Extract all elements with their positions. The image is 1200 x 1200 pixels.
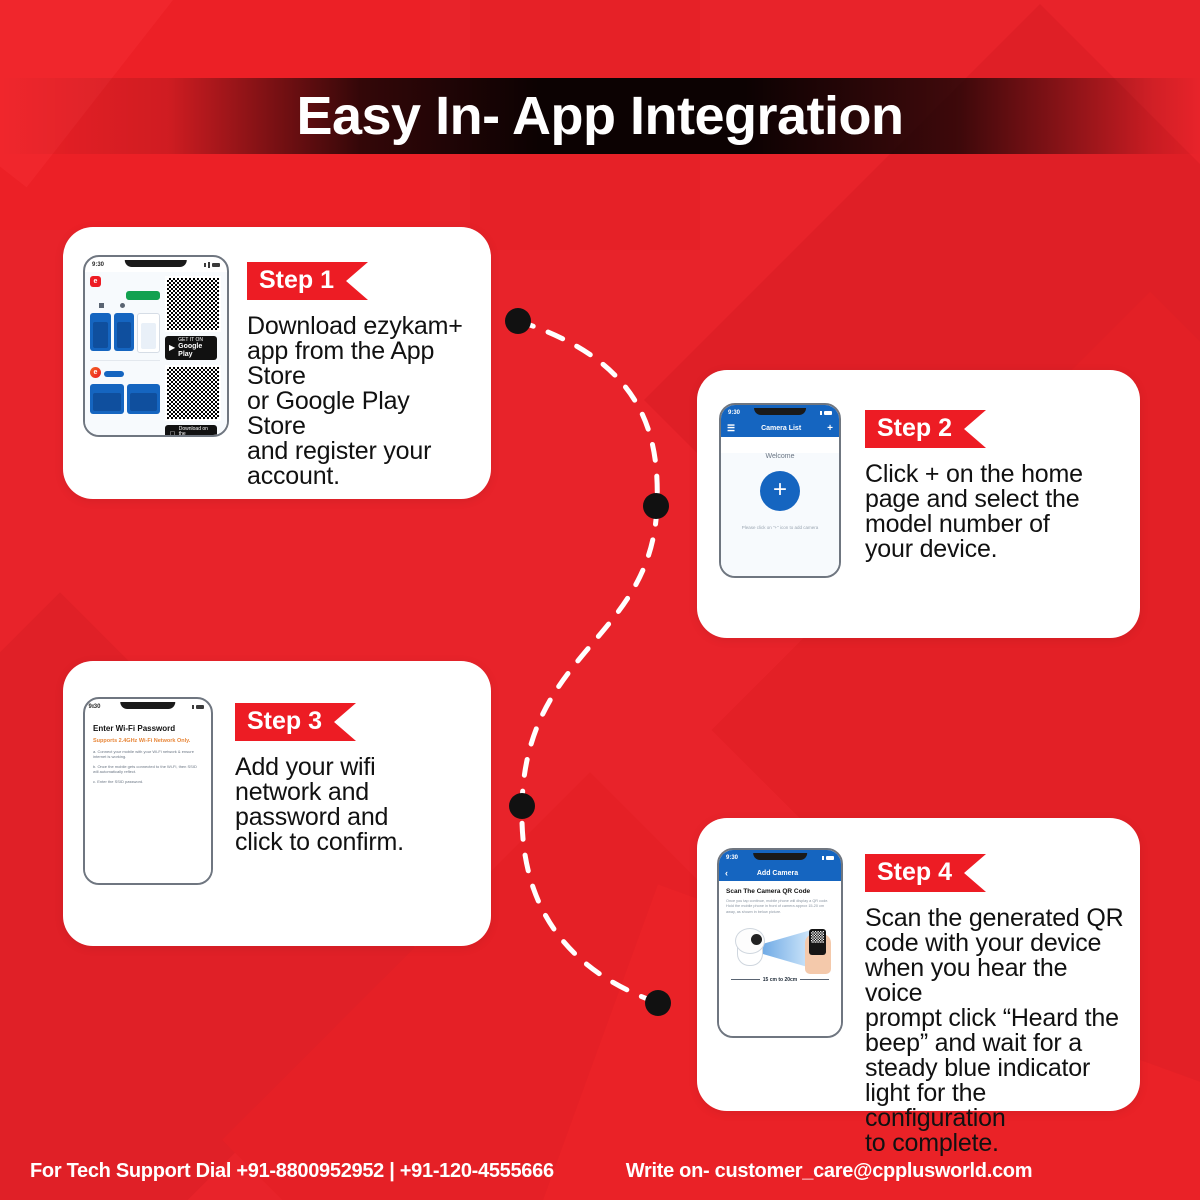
change-network-link[interactable]: Change Network [169, 884, 203, 885]
step-1-description: Download ezykam+ app from the App Store … [247, 314, 471, 489]
app-icon-2: e [90, 367, 101, 378]
step-4-text-block: Step 4 Scan the generated QR code with y… [865, 854, 1126, 1156]
install-button[interactable] [126, 291, 160, 300]
wifi-tip: c. Enter the SSID password. [93, 779, 203, 784]
step-4-badge: Step 4 [865, 854, 986, 892]
phone-status-bar: 9:30 [719, 850, 841, 865]
get-button[interactable] [104, 371, 124, 377]
camera-view-cone [761, 930, 811, 968]
step-card-1[interactable]: 9:30 e [63, 227, 491, 499]
step-4-description: Scan the generated QR code with your dev… [865, 906, 1126, 1156]
step-2-badge: Step 2 [865, 410, 986, 448]
camera-lens [751, 934, 762, 945]
wifi-network-row: Aditya Infotech ultra Change Network [85, 884, 211, 885]
step-1-badge: Step 1 [247, 262, 368, 300]
wifi-password-heading: Enter Wi-Fi Password [93, 724, 203, 733]
app-store-badge[interactable]:  Download on the App Store [165, 425, 217, 437]
plus-icon[interactable]: + [827, 423, 833, 434]
phone-screen: Enter Wi-Fi Password Supports 2.4GHz Wi-… [85, 724, 211, 885]
screenshot-strip-1 [85, 311, 165, 358]
wifi-tip: a. Connect your mobile with your Wi-Fi n… [93, 749, 203, 760]
email-contact-text: Write on- customer_care@cpplusworld.com [626, 1160, 1032, 1183]
status-indicators [204, 262, 220, 268]
wifi-band-warning: Supports 2.4GHz Wi-Fi Network Only. [93, 738, 203, 744]
phone-screen: e [85, 272, 227, 437]
hamburger-icon[interactable]: ☰ [727, 423, 735, 434]
footer-bar: For Tech Support Dial +91-8800952952 | +… [0, 1142, 1200, 1200]
step-3-phone-mockup: ‹ 9:30 Add Camera Enter Wi-Fi Password S… [83, 697, 213, 885]
add-camera-header: ‹ Add Camera [719, 865, 841, 881]
camera-scan-illustration: 15 cm to 20cm [725, 920, 835, 986]
page-title: Easy In- App Integration [0, 78, 1200, 154]
store-listing-row-2: e [85, 363, 165, 382]
distance-dimension: 15 cm to 20cm [731, 977, 829, 983]
step-1-text-block: Step 1 Download ezykam+ app from the App… [247, 262, 471, 489]
status-time: 9:30 [728, 410, 740, 416]
phone-status-bar: 9:30 [85, 257, 227, 272]
phone-screen: Welcome + Please click on "+" icon to ad… [721, 453, 839, 578]
step-3-text-block: Step 3 Add your wifi network and passwor… [235, 703, 471, 855]
step-4-phone-mockup: 9:30 ‹ Add Camera Scan The Camera QR Cod… [717, 848, 843, 1038]
screenshot-strip-2 [85, 382, 165, 419]
phone-screen: Scan The Camera QR Code Once you tap con… [719, 888, 841, 1038]
step-card-2[interactable]: 9:30 ☰ Camera List + Welcome + Please cl… [697, 370, 1140, 638]
qr-code-app-store [165, 365, 221, 421]
welcome-label: Welcome [721, 453, 839, 460]
step-3-description: Add your wifi network and password and c… [235, 755, 471, 855]
tech-support-text: For Tech Support Dial +91-8800952952 | +… [30, 1160, 554, 1183]
scan-qr-paragraph: Once you tap continue, mobile phone will… [726, 899, 834, 915]
step-2-phone-mockup: 9:30 ☰ Camera List + Welcome + Please cl… [719, 403, 841, 578]
distance-label: 15 cm to 20cm [763, 977, 797, 983]
add-camera-plus-button[interactable]: + [760, 471, 800, 511]
step-2-description: Click + on the home page and select the … [865, 462, 1118, 562]
wifi-network-name: Aditya Infotech ultra [102, 884, 142, 885]
store-listing-row: e [85, 272, 165, 291]
google-play-badge[interactable]: ▶ GET IT ON Google Play [165, 336, 217, 360]
step-card-4[interactable]: 9:30 ‹ Add Camera Scan The Camera QR Cod… [697, 818, 1140, 1111]
status-time: 9:30 [726, 855, 738, 861]
header-title: Add Camera [129, 704, 164, 710]
header-title: Add Camera [728, 870, 827, 877]
step-1-phone-mockup: 9:30 e [83, 255, 229, 437]
wifi-tip: b. Once the mobile gets connected to the… [93, 764, 203, 775]
wifi-icon [93, 884, 99, 885]
infographic-canvas: Easy In- App Integration 9:30 [0, 0, 1200, 1200]
status-time: 9:30 [88, 704, 100, 710]
header-title: Camera List [735, 425, 827, 432]
scan-qr-heading: Scan The Camera QR Code [726, 888, 834, 895]
step-2-text-block: Step 2 Click + on the home page and sele… [865, 410, 1118, 562]
app-icon: e [90, 276, 101, 287]
add-camera-hint: Please click on "+" icon to add camera [721, 525, 839, 530]
status-time: 9:30 [92, 262, 104, 268]
qr-code-google-play [165, 276, 221, 332]
step-card-3[interactable]: ‹ 9:30 Add Camera Enter Wi-Fi Password S… [63, 661, 491, 946]
phone-status-bar: ‹ 9:30 Add Camera [85, 699, 211, 714]
step-3-badge: Step 3 [235, 703, 356, 741]
qr-code-on-phone [811, 931, 824, 943]
camera-list-header: ☰ Camera List + [721, 420, 839, 437]
phone-status-bar: 9:30 [721, 405, 839, 420]
